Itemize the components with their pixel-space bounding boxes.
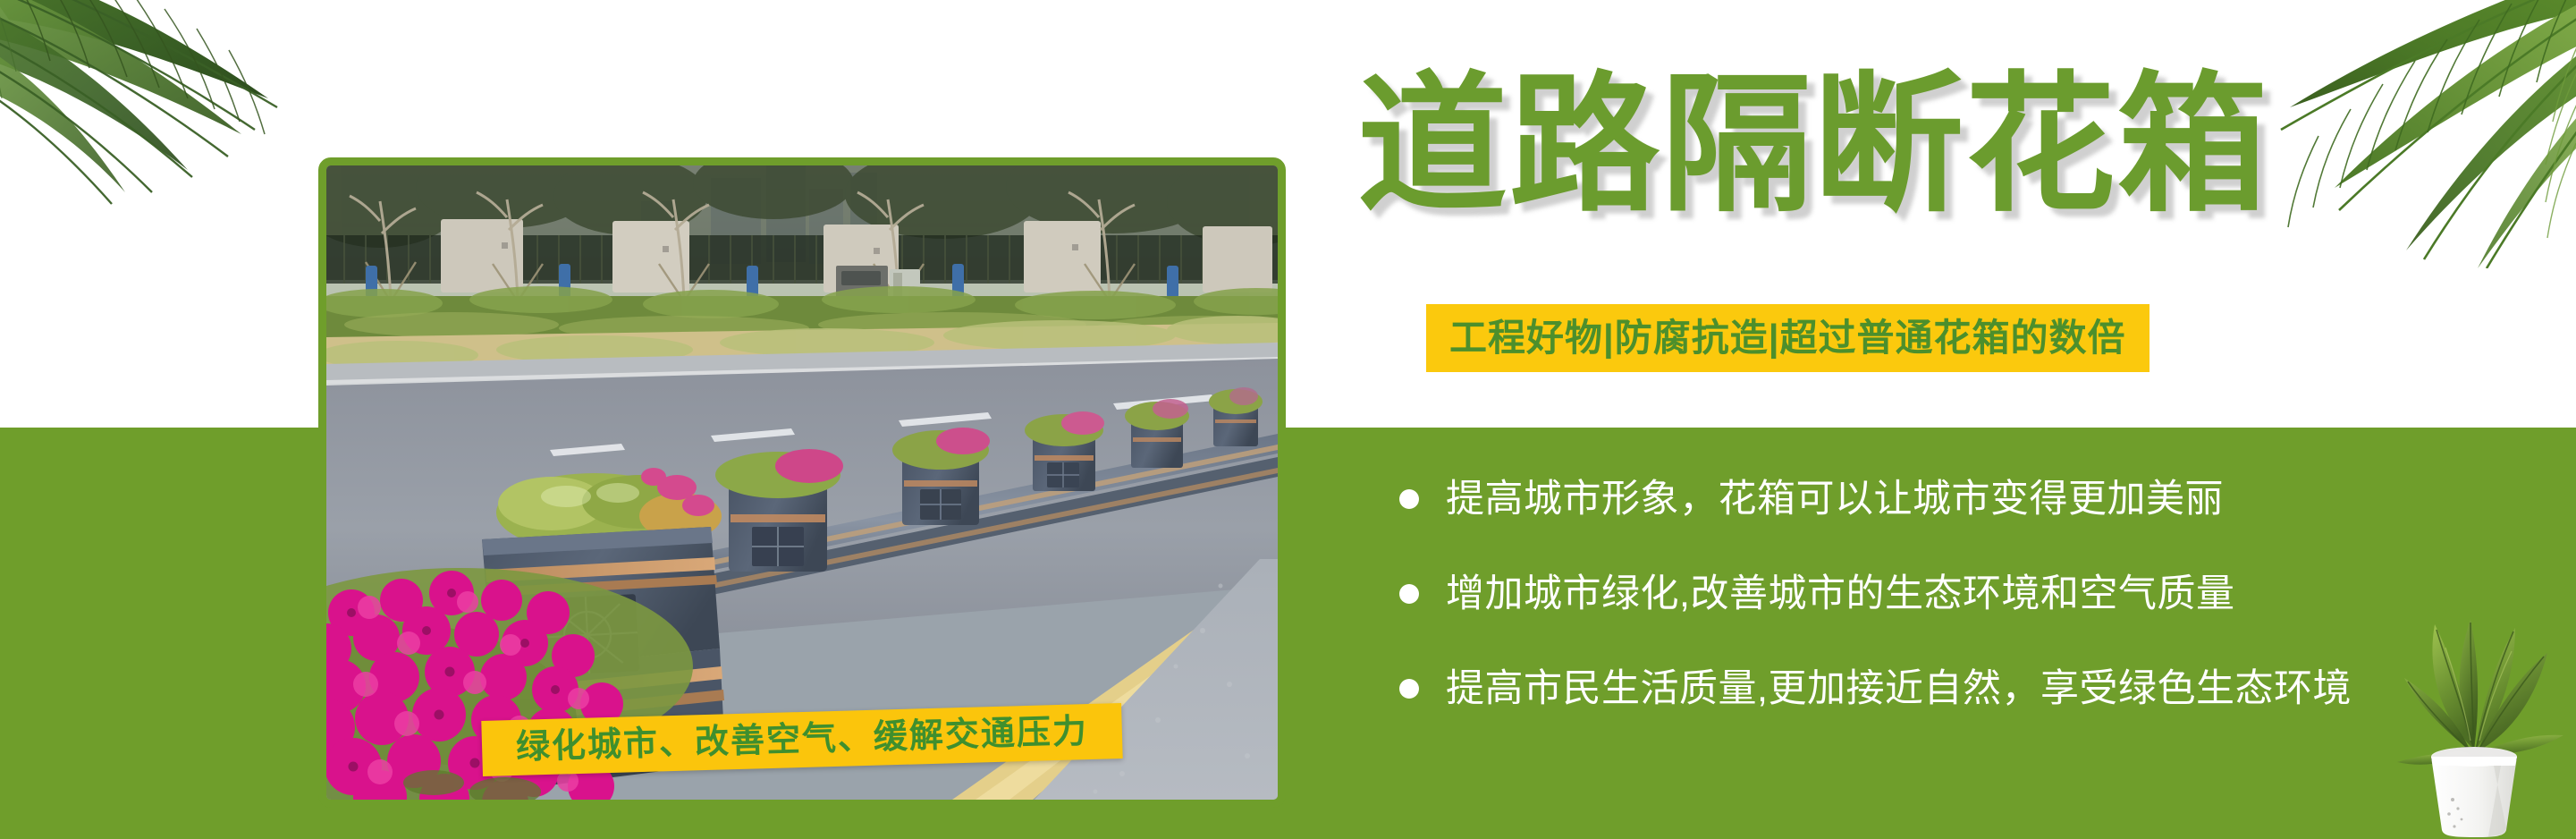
palm-frond-icon (0, 0, 349, 233)
street-divider-flower-box-photo: 绿化城市、改善空气、缓解交通压力 (318, 157, 1286, 808)
photo-image (326, 165, 1278, 800)
bullet-dot-icon (1399, 679, 1419, 699)
bullet-dot-icon (1399, 489, 1419, 509)
bullet-dot-icon (1399, 584, 1419, 604)
list-item-label: 增加城市绿化,改善城市的生态环境和空气质量 (1446, 575, 2234, 614)
feature-list: 提高城市形象，花箱可以让城市变得更加美丽 增加城市绿化,改善城市的生态环境和空气… (1399, 471, 2562, 756)
photo-caption-text: 绿化城市、改善空气、缓解交通压力 (516, 715, 1089, 765)
list-item: 提高城市形象，花箱可以让城市变得更加美丽 (1399, 471, 2562, 527)
list-item: 提高市民生活质量,更加接近自然，享受绿色生态环境 (1399, 661, 2562, 716)
product-banner: 绿化城市、改善空气、缓解交通压力 道路隔断花箱 工程好物|防腐抗造|超过普通花箱… (0, 0, 2576, 839)
list-item-label: 提高城市形象，花箱可以让城市变得更加美丽 (1446, 480, 2224, 519)
page-title: 道路隔断花箱 (1357, 70, 2269, 220)
photo-illustration (326, 165, 1278, 800)
list-item-label: 提高市民生活质量,更加接近自然，享受绿色生态环境 (1446, 670, 2352, 708)
list-item: 增加城市绿化,改善城市的生态环境和空气质量 (1399, 566, 2562, 622)
subtitle-badge-text: 工程好物|防腐抗造|超过普通花箱的数倍 (1449, 319, 2126, 357)
subtitle-badge: 工程好物|防腐抗造|超过普通花箱的数倍 (1426, 304, 2149, 372)
